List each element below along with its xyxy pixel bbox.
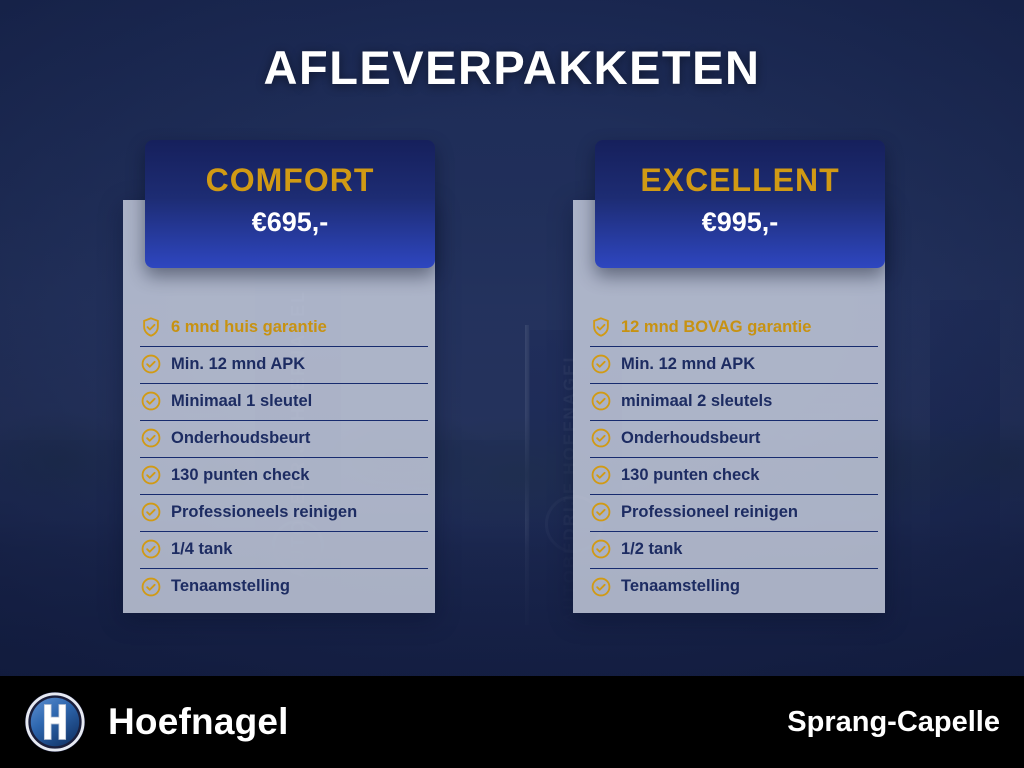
circle-check-icon (140, 464, 162, 486)
list-item: 1/2 tank (590, 532, 878, 569)
shield-check-icon (590, 316, 612, 338)
hoefnagel-logo-icon (24, 691, 86, 753)
feature-list: 6 mnd huis garantie Min. 12 mnd APK Mini… (140, 310, 428, 606)
package-header: EXCELLENT €995,- (595, 140, 885, 268)
circle-check-icon (590, 427, 612, 449)
list-item: Professioneel reinigen (590, 495, 878, 532)
package-card-excellent[interactable]: 12 mnd BOVAG garantie Min. 12 mnd APK mi… (573, 200, 885, 613)
circle-check-icon (140, 501, 162, 523)
circle-check-icon (140, 538, 162, 560)
feature-label: 130 punten check (621, 466, 759, 485)
feature-label: 6 mnd huis garantie (171, 318, 327, 337)
list-item: Onderhoudsbeurt (140, 421, 428, 458)
feature-label: Min. 12 mnd APK (171, 355, 305, 374)
circle-check-icon (140, 576, 162, 598)
list-item: Min. 12 mnd APK (590, 347, 878, 384)
circle-check-icon (140, 353, 162, 375)
feature-label: 12 mnd BOVAG garantie (621, 318, 811, 337)
package-price: €695,- (145, 207, 435, 238)
footer-bar: Hoefnagel Sprang-Capelle (0, 676, 1024, 768)
feature-label: 1/4 tank (171, 540, 232, 559)
package-card-comfort[interactable]: 6 mnd huis garantie Min. 12 mnd APK Mini… (123, 200, 435, 613)
feature-label: Professioneels reinigen (171, 503, 357, 522)
circle-check-icon (590, 501, 612, 523)
list-item: Minimaal 1 sleutel (140, 384, 428, 421)
list-item: 130 punten check (140, 458, 428, 495)
feature-label: Minimaal 1 sleutel (171, 392, 312, 411)
list-item: Min. 12 mnd APK (140, 347, 428, 384)
feature-label: minimaal 2 sleutels (621, 392, 772, 411)
feature-label: Professioneel reinigen (621, 503, 798, 522)
list-item: 1/4 tank (140, 532, 428, 569)
package-name: COMFORT (145, 162, 435, 199)
circle-check-icon (140, 427, 162, 449)
feature-label: 1/2 tank (621, 540, 682, 559)
circle-check-icon (590, 353, 612, 375)
feature-label: Tenaamstelling (171, 577, 290, 596)
circle-check-icon (590, 390, 612, 412)
list-item: 12 mnd BOVAG garantie (590, 310, 878, 347)
feature-label: Tenaamstelling (621, 577, 740, 596)
feature-label: 130 punten check (171, 466, 309, 485)
list-item: minimaal 2 sleutels (590, 384, 878, 421)
feature-label: Onderhoudsbeurt (621, 429, 760, 448)
list-item: Onderhoudsbeurt (590, 421, 878, 458)
brand-name: Hoefnagel (108, 701, 289, 743)
feature-label: Onderhoudsbeurt (171, 429, 310, 448)
list-item: Tenaamstelling (140, 569, 428, 606)
list-item: Tenaamstelling (590, 569, 878, 606)
package-name: EXCELLENT (595, 162, 885, 199)
list-item: 130 punten check (590, 458, 878, 495)
package-header: COMFORT €695,- (145, 140, 435, 268)
circle-check-icon (590, 464, 612, 486)
package-price: €995,- (595, 207, 885, 238)
circle-check-icon (140, 390, 162, 412)
list-item: 6 mnd huis garantie (140, 310, 428, 347)
feature-label: Min. 12 mnd APK (621, 355, 755, 374)
feature-list: 12 mnd BOVAG garantie Min. 12 mnd APK mi… (590, 310, 878, 606)
list-item: Professioneels reinigen (140, 495, 428, 532)
location-label: Sprang-Capelle (787, 706, 1000, 739)
shield-check-icon (140, 316, 162, 338)
circle-check-icon (590, 576, 612, 598)
page-title: AFLEVERPAKKETEN (0, 40, 1024, 95)
circle-check-icon (590, 538, 612, 560)
